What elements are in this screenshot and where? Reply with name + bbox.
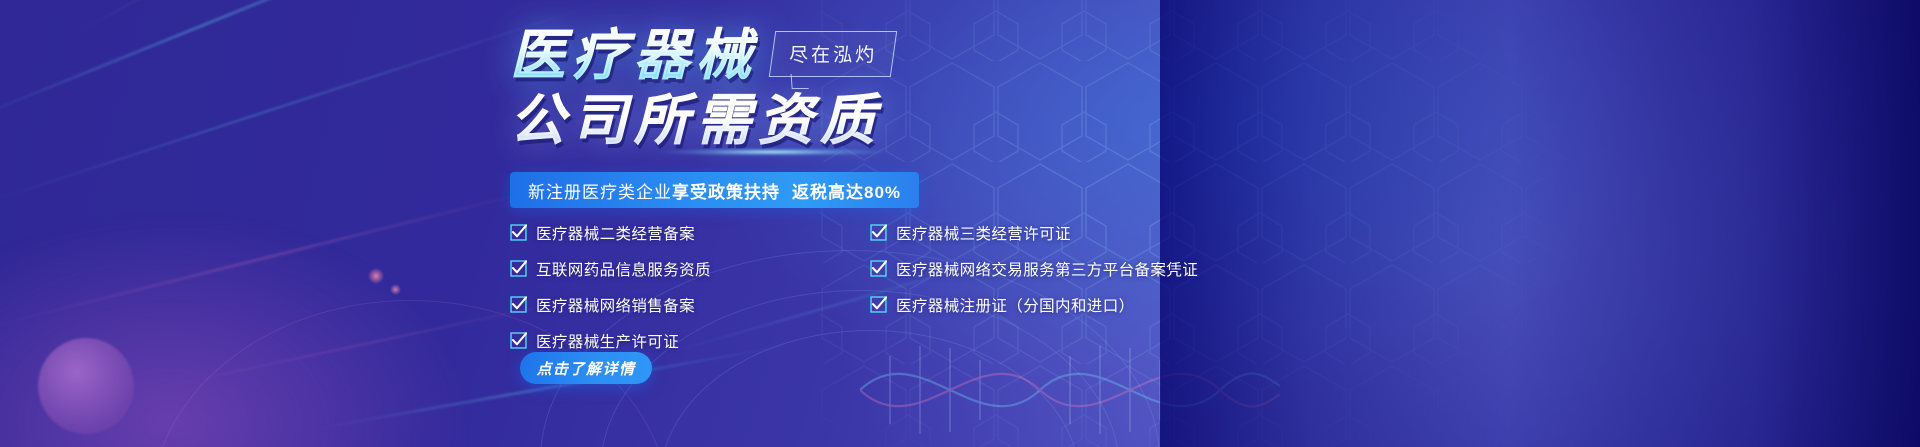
- check-box-icon: [870, 224, 887, 241]
- list-item-label: 医疗器械生产许可证: [536, 330, 679, 352]
- learn-more-button[interactable]: 点击了解详情: [520, 352, 652, 384]
- list-item[interactable]: 医疗器械生产许可证: [510, 326, 870, 355]
- promo-banner: 医疗器械 尽在泓灼 公司所需资质 新注册医疗类企业 享受政策扶持 返税高达80%: [0, 0, 1920, 447]
- headline-line-1: 医疗器械: [510, 26, 758, 85]
- headline-row-1: 医疗器械 尽在泓灼: [510, 26, 1510, 85]
- list-item-label: 互联网药品信息服务资质: [536, 258, 711, 280]
- pink-dot-decor: [368, 268, 384, 284]
- qualification-checklist: 医疗器械二类经营备案 医疗器械三类经营许可证: [510, 218, 1150, 355]
- brand-tag-label: 尽在泓灼: [789, 40, 877, 67]
- headline-line-2: 公司所需资质: [510, 91, 1510, 150]
- list-item[interactable]: 医疗器械网络销售备案: [510, 290, 870, 319]
- list-item-label: 医疗器械二类经营备案: [536, 222, 695, 244]
- check-box-icon: [870, 296, 887, 313]
- promo-text-strong: 享受政策扶持: [672, 178, 780, 203]
- list-item-label: 医疗器械网络交易服务第三方平台备案凭证: [896, 258, 1198, 280]
- light-ray: [0, 0, 534, 133]
- check-box-icon: [510, 224, 527, 241]
- list-item[interactable]: 医疗器械注册证（分国内和进口）: [870, 290, 1150, 319]
- promo-text-normal: 新注册医疗类企业: [528, 178, 672, 203]
- check-box-icon: [870, 260, 887, 277]
- list-item-label: 医疗器械注册证（分国内和进口）: [896, 294, 1135, 316]
- list-item[interactable]: 互联网药品信息服务资质: [510, 254, 870, 283]
- list-item[interactable]: 医疗器械三类经营许可证: [870, 218, 1150, 247]
- list-item-label: 医疗器械网络销售备案: [536, 294, 695, 316]
- light-ray: [60, 0, 520, 42]
- light-ray: [0, 180, 572, 333]
- check-box-icon: [510, 332, 527, 349]
- brand-tag-bubble: 尽在泓灼: [769, 31, 897, 77]
- purple-circle-decor: [38, 338, 134, 434]
- banner-content: 医疗器械 尽在泓灼 公司所需资质 新注册医疗类企业 享受政策扶持 返税高达80%: [510, 0, 1510, 447]
- list-item[interactable]: 医疗器械网络交易服务第三方平台备案凭证: [870, 254, 1150, 283]
- promo-text-discount: 返税高达80%: [792, 178, 901, 203]
- list-item[interactable]: 医疗器械二类经营备案: [510, 218, 870, 247]
- promo-bar: 新注册医疗类企业 享受政策扶持 返税高达80%: [510, 172, 919, 208]
- headline-block: 医疗器械 尽在泓灼 公司所需资质: [510, 26, 1510, 151]
- purple-glow: [0, 207, 480, 447]
- list-item-label: 医疗器械三类经营许可证: [896, 222, 1071, 244]
- check-box-icon: [510, 260, 527, 277]
- sparkle-decor: [658, 148, 888, 156]
- pink-dot-decor: [390, 284, 401, 295]
- check-box-icon: [510, 296, 527, 313]
